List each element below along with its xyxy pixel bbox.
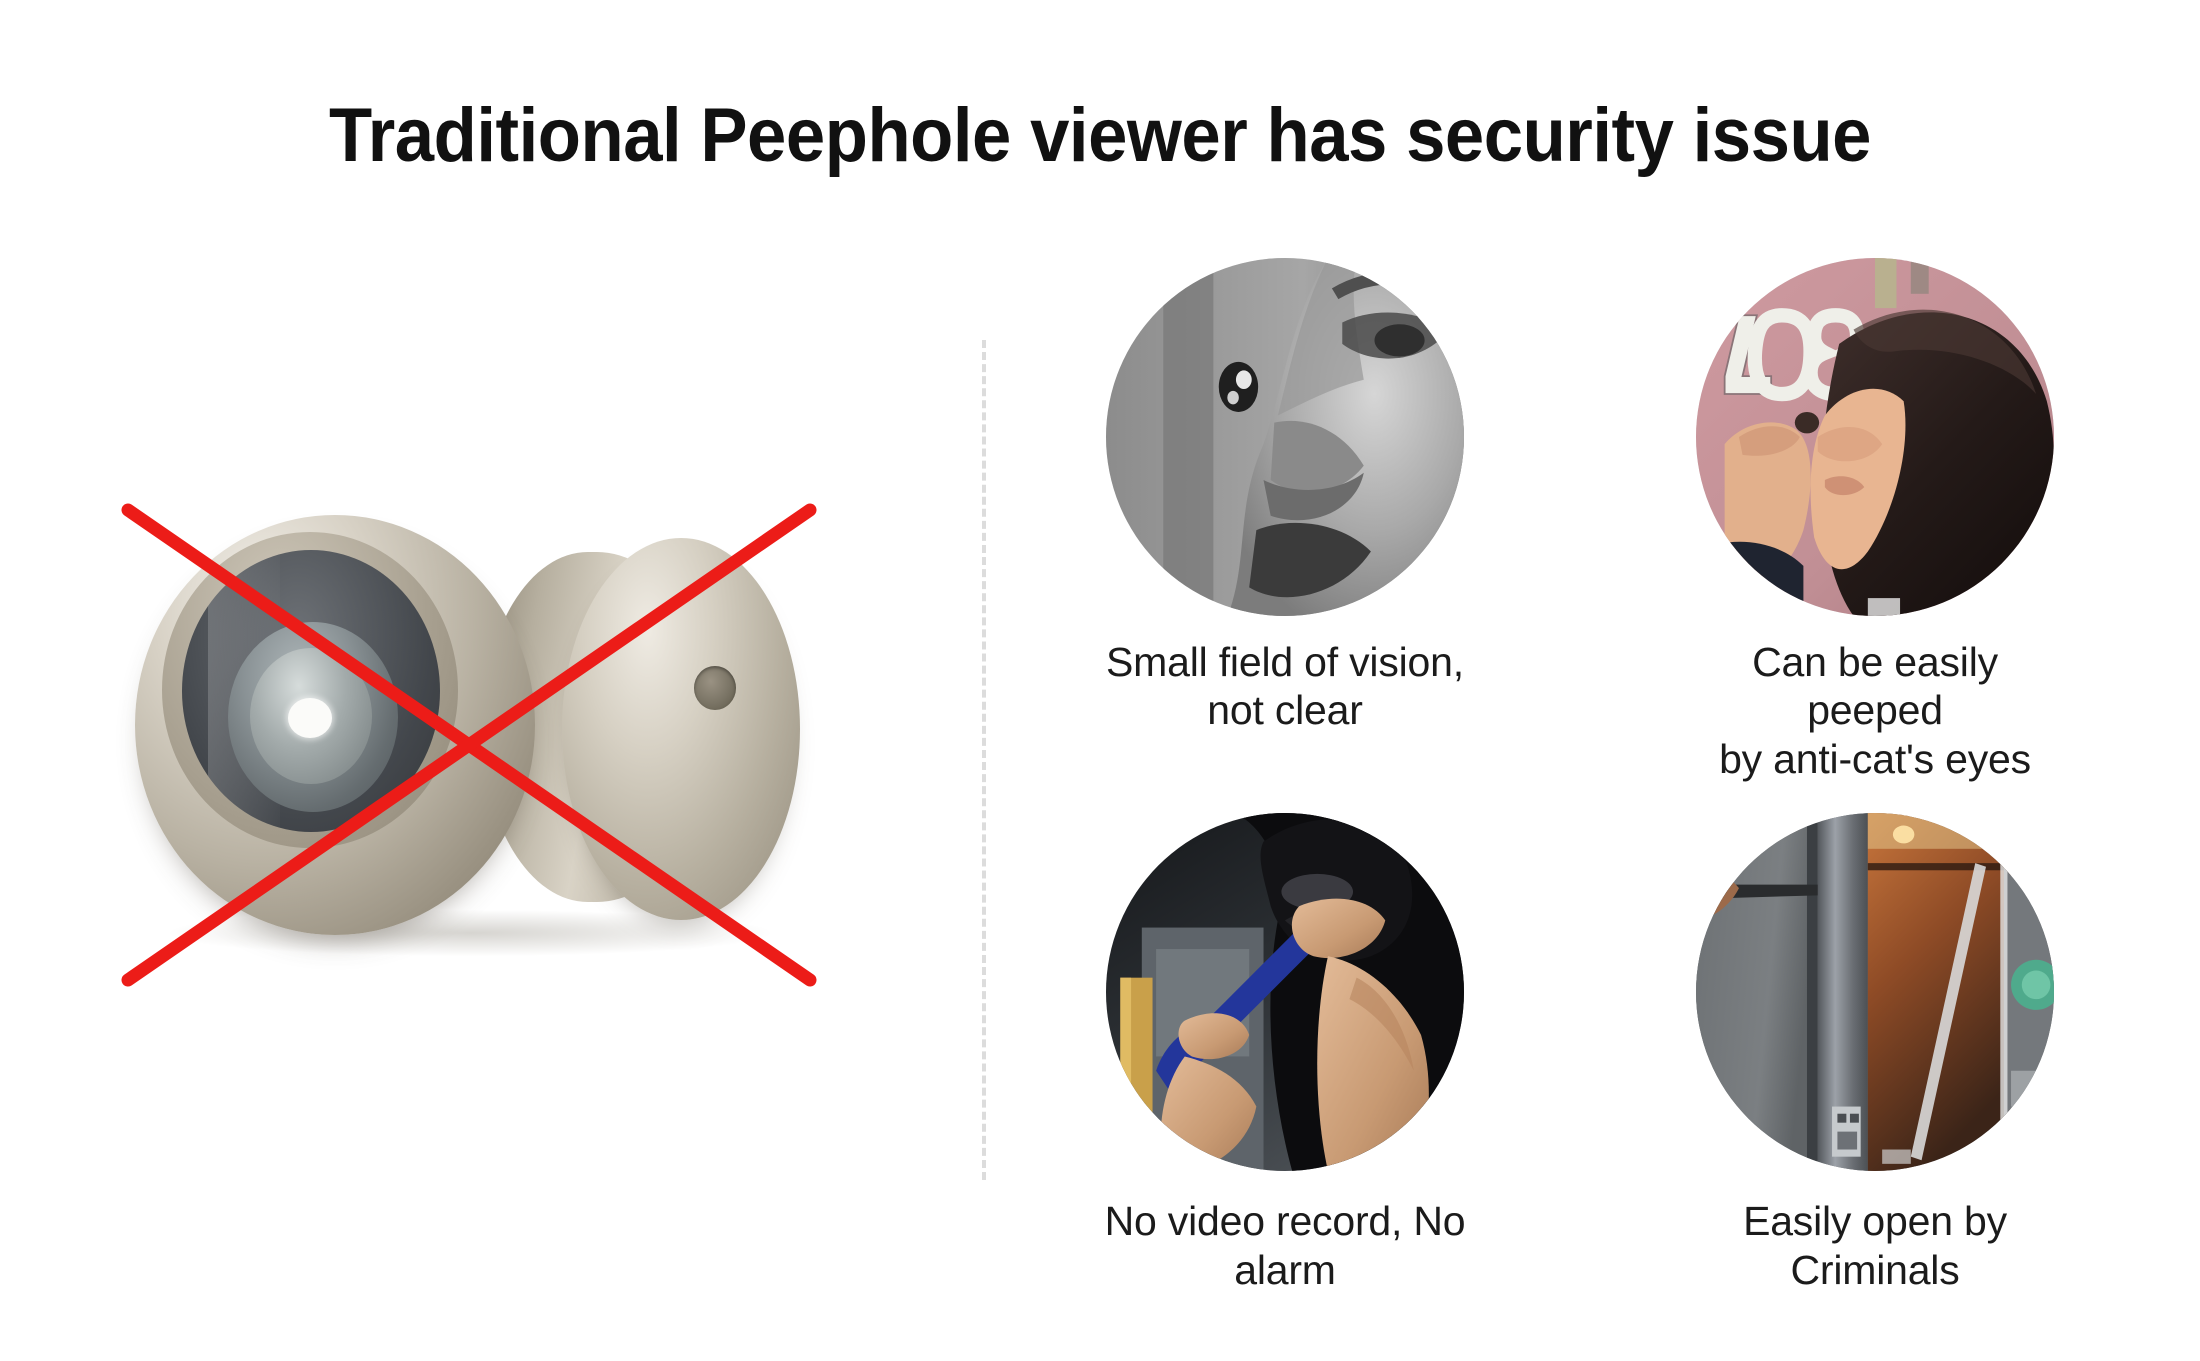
issue-caption: No video record, No alarm bbox=[1090, 1197, 1480, 1294]
issue-photo-easily-open-by-criminals bbox=[1696, 813, 2054, 1171]
issue-card-easily-peeped: Can be easily peeped by anti-cat's eyes bbox=[1680, 258, 2070, 783]
issue-caption: Can be easily peeped by anti-cat's eyes bbox=[1680, 638, 2070, 783]
product-panel bbox=[110, 480, 890, 1000]
section-divider bbox=[982, 340, 986, 1180]
slide-root: Traditional Peephole viewer has security… bbox=[0, 0, 2200, 1361]
red-cross-out-icon bbox=[110, 480, 890, 1000]
issue-card-no-video-record: No video record, No alarm bbox=[1090, 813, 1480, 1294]
issue-card-small-field-of-vision: Small field of vision, not clear bbox=[1090, 258, 1480, 783]
issue-photo-easily-peeped bbox=[1696, 258, 2054, 616]
issue-caption: Easily open by Criminals bbox=[1680, 1197, 2070, 1294]
issues-grid: Small field of vision, not clear bbox=[1090, 258, 2100, 1294]
issue-card-easily-open-by-criminals: Easily open by Criminals bbox=[1680, 813, 2070, 1294]
issue-photo-no-video-record bbox=[1106, 813, 1464, 1171]
issue-photo-small-field-of-vision bbox=[1106, 258, 1464, 616]
issue-caption: Small field of vision, not clear bbox=[1106, 638, 1464, 735]
page-title: Traditional Peephole viewer has security… bbox=[77, 92, 2123, 179]
